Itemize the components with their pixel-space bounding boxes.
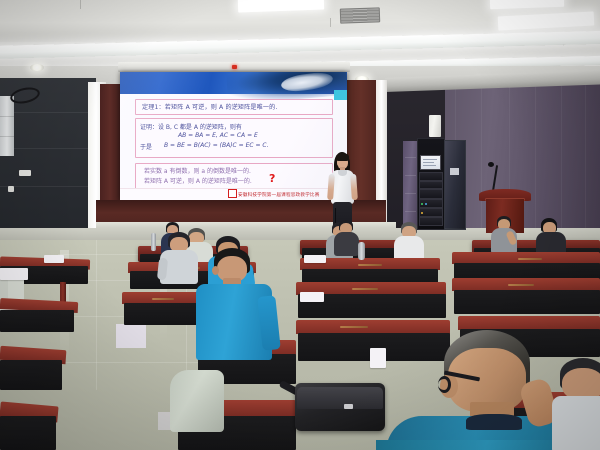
handout-paper[interactable] (0, 268, 28, 280)
banner-accent-tab (334, 90, 347, 100)
proof-lead-text: 于是 (140, 142, 152, 151)
slide-content: 定理1：若矩阵 A 可逆，则 A 的逆矩阵是唯一的. 证明：设 B, C 都是 … (120, 72, 347, 200)
light-switch[interactable] (8, 186, 14, 192)
presenter (326, 152, 360, 230)
rack-monitor (420, 155, 441, 170)
projection-screen: 定理1：若矩阵 A 可逆，则 A 的逆矩阵是唯一的. 证明：设 B, C 都是 … (120, 72, 347, 200)
proof-equation-1: AB = BA = E, AC = CA = E (178, 132, 258, 139)
rack-unit (419, 181, 443, 189)
thermos-cup[interactable] (358, 242, 365, 260)
rack-indicator-led (425, 203, 427, 205)
question-mark-annotation: ? (269, 172, 275, 185)
air-vent (340, 7, 380, 23)
rack-indicator-led (421, 203, 423, 205)
desk-trim (518, 258, 542, 260)
seat-panel (0, 360, 62, 390)
person-torso (552, 396, 600, 450)
handout-paper[interactable] (370, 348, 386, 368)
note-line-2: 若矩阵 A 可逆，则 A 的逆矩阵是唯一的. (144, 176, 252, 185)
ceiling-hanger (80, 0, 81, 9)
seat-panel (454, 290, 600, 314)
rack-glass-door[interactable] (444, 140, 466, 230)
seat-back (458, 316, 600, 330)
seat-back (296, 320, 450, 334)
presenter-hair-top (336, 153, 349, 161)
proof-equation-2: B = BE = B(AC) = (BA)C = EC = C. (164, 142, 269, 149)
slide-header-banner (120, 72, 347, 94)
rack-unit (419, 217, 443, 226)
theorem-text: 定理1：若矩阵 A 可逆，则 A 的逆矩阵是唯一的. (142, 102, 278, 111)
seat-panel (0, 310, 74, 332)
eyeglasses-temple-icon (438, 376, 451, 393)
shoulder-bag[interactable] (295, 383, 385, 431)
handout-paper[interactable] (44, 255, 64, 263)
slide-footer-text: 安徽科技学院第一届课程思政教学比赛 (238, 192, 320, 198)
floor-tile-seam (96, 240, 97, 390)
proof-intro-text: 证明：设 B, C 都是 A 的逆矩阵，则有 (140, 122, 242, 131)
presenter-collar (338, 170, 347, 176)
handout-paper[interactable] (304, 255, 326, 263)
institution-logo-icon (228, 189, 237, 198)
desk-trim (340, 326, 368, 328)
wall-mounted-panel (0, 96, 14, 156)
rack-side-cabinet (403, 141, 418, 227)
bag-label-tag (344, 404, 353, 409)
presenter-right-arm (350, 174, 358, 200)
lecture-hall-photo: 定理1：若矩阵 A 可逆，则 A 的逆矩阵是唯一的. 证明：设 B, C 都是 … (0, 0, 600, 450)
person-collar (466, 414, 522, 430)
rack-door-label (450, 168, 459, 175)
screen-status-led (232, 65, 237, 69)
desk-trim (152, 298, 174, 300)
rack-unit (419, 189, 443, 199)
person-trousers (170, 370, 224, 432)
person-torso (334, 232, 359, 256)
rack-unit (419, 172, 443, 181)
wall-speaker (429, 115, 441, 137)
person-ear (212, 266, 219, 275)
handout-paper[interactable] (116, 324, 146, 348)
note-line-1: 若实数 a 有倒数，则 a 的倒数是唯一的. (144, 166, 251, 175)
ceiling-downlight (30, 64, 44, 71)
desk-trim (508, 284, 534, 286)
desk-trim (352, 288, 378, 290)
seat-panel (0, 416, 56, 450)
rack-indicator-led (421, 212, 423, 214)
bag-flap (297, 387, 383, 409)
seat-panel (124, 303, 206, 325)
wall-outlet-plate (19, 170, 31, 176)
ceiling-hanger (330, 18, 331, 27)
handout-paper[interactable] (300, 292, 324, 302)
gooseneck-microphone-icon (488, 162, 494, 167)
desk-trim (358, 264, 382, 266)
thermos-cup[interactable] (151, 233, 156, 251)
